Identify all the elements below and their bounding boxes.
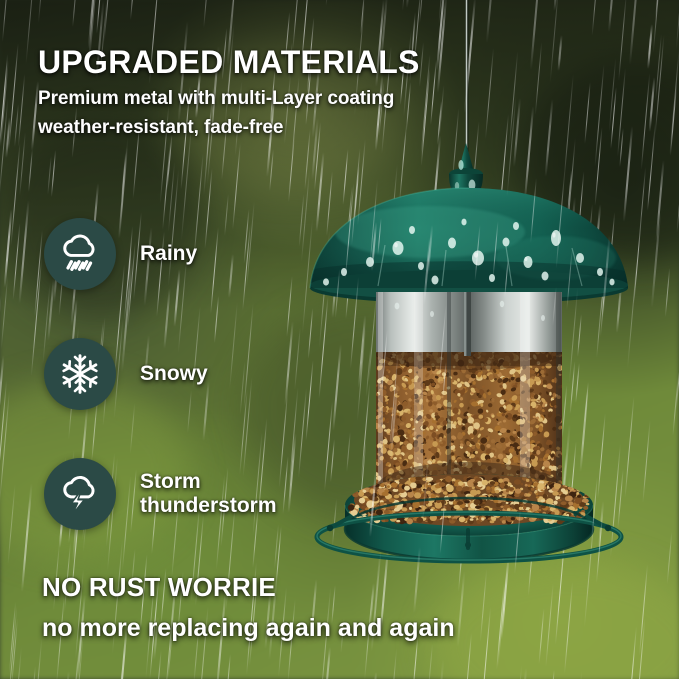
page-title: UPGRADED MATERIALS: [38, 44, 420, 81]
feature-storm: Storm thunderstorm: [44, 458, 277, 530]
product-marketing-image: UPGRADED MATERIALS Premium metal with mu…: [0, 0, 679, 679]
subtitle-line-1: Premium metal with multi-Layer coating: [38, 88, 394, 110]
feature-label-storm: Storm thunderstorm: [140, 470, 277, 517]
feature-rainy: Rainy: [44, 218, 197, 290]
rain-cloud-icon-badge: [44, 218, 116, 290]
footer-line-2: no more replacing again and again: [42, 614, 455, 643]
rain-cloud-icon: [57, 231, 103, 277]
thunderstorm-cloud-icon: [57, 471, 103, 517]
snowflake-icon: [58, 352, 102, 396]
subtitle-line-2: weather-resistant, fade-free: [38, 117, 283, 139]
thunderstorm-cloud-icon-badge: [44, 458, 116, 530]
snowflake-icon-badge: [44, 338, 116, 410]
feature-label-rainy: Rainy: [140, 242, 197, 266]
feature-snowy: Snowy: [44, 338, 208, 410]
feature-label-snowy: Snowy: [140, 362, 208, 386]
footer-line-1: NO RUST WORRIE: [42, 572, 276, 603]
